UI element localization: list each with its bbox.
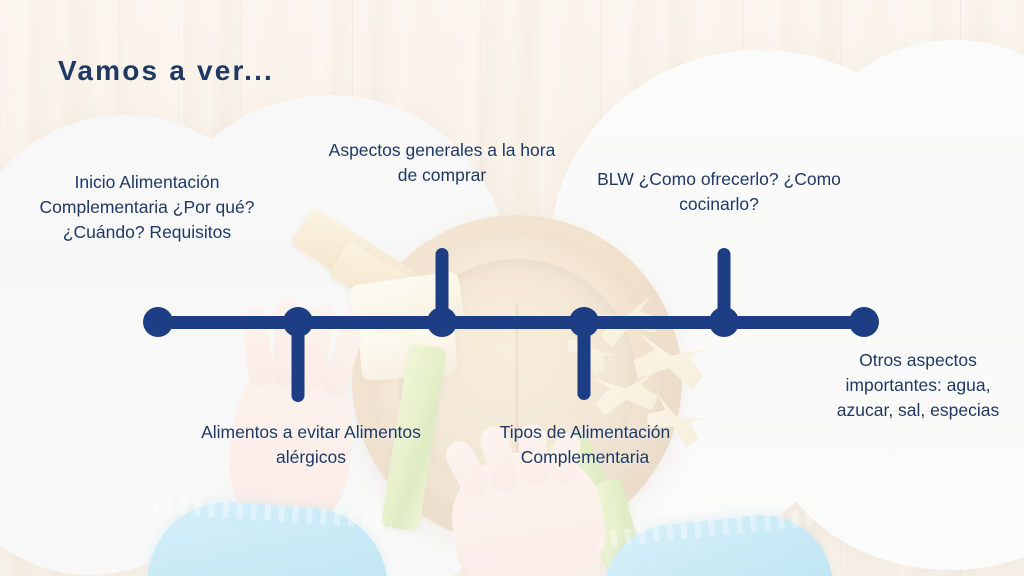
- slide-canvas: Vamos a ver... Inicio Alimentación Compl…: [0, 0, 1024, 576]
- timeline-node-6[interactable]: [849, 307, 879, 337]
- timeline-label-3: Aspectos generales a la hora de comprar: [326, 138, 558, 188]
- timeline-label-1: Inicio Alimentación Complementaria ¿Por …: [22, 170, 272, 245]
- timeline-label-6: Otros aspectos importantes: agua, azucar…: [822, 348, 1014, 423]
- timeline-node-1[interactable]: [143, 307, 173, 337]
- timeline-node-5[interactable]: [709, 307, 739, 337]
- page-title: Vamos a ver...: [58, 55, 274, 87]
- timeline-node-4[interactable]: [569, 307, 599, 337]
- slide-content: Vamos a ver... Inicio Alimentación Compl…: [0, 0, 1024, 576]
- timeline-axis: [158, 316, 864, 329]
- timeline-node-2[interactable]: [283, 307, 313, 337]
- timeline-label-5: BLW ¿Como ofrecerlo? ¿Como cocinarlo?: [578, 167, 860, 217]
- timeline-node-3[interactable]: [427, 307, 457, 337]
- timeline-label-4: Tipos de Alimentación Complementaria: [460, 420, 710, 470]
- timeline-label-2: Alimentos a evitar Alimentos alérgicos: [186, 420, 436, 470]
